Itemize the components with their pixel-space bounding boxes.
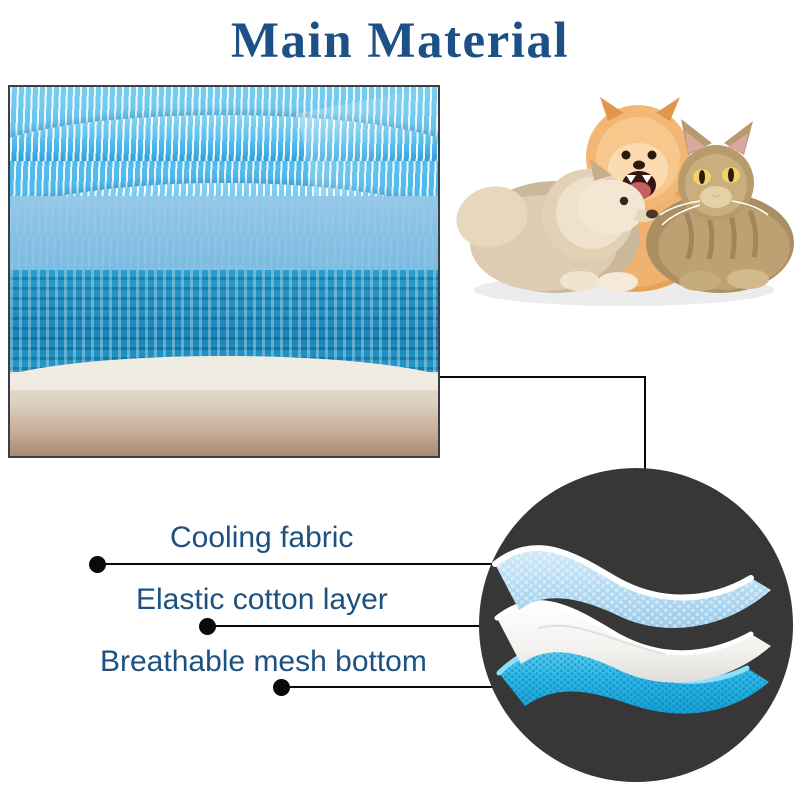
- main-material-infographic: Main Material: [0, 0, 800, 800]
- page-title: Main Material: [0, 12, 800, 70]
- three-layer-diagram: [479, 468, 793, 782]
- pets-illustration: [448, 85, 800, 315]
- layer-label-cooling-fabric: Cooling fabric: [170, 521, 353, 555]
- layer-label-breathable-mesh-bottom: Breathable mesh bottom: [100, 645, 427, 679]
- leader-line-cooling-fabric: [97, 563, 517, 565]
- layer-label-elastic-cotton-layer: Elastic cotton layer: [136, 583, 388, 617]
- fabric-base-edge: [10, 372, 438, 456]
- layer-diagram-circle: [479, 468, 793, 782]
- fabric-closeup-photo: [8, 85, 440, 458]
- pets-photo: [448, 85, 800, 315]
